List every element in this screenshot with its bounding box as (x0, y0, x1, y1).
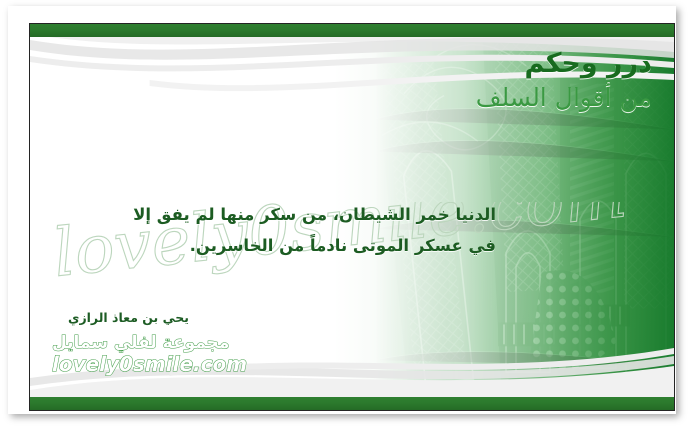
page-frame: درر وحكم من أقوال السلف lovely0smile.com… (8, 6, 676, 414)
poster-root: درر وحكم من أقوال السلف lovely0smile.com… (0, 0, 692, 432)
card-border: درر وحكم من أقوال السلف lovely0smile.com… (29, 23, 675, 411)
quote-line-2: في عسكر الموتى نادماً من الخاسرين. (106, 231, 496, 262)
page-title: درر وحكم (476, 50, 652, 77)
brand-site-label: lovely0smile.com (52, 352, 247, 376)
quote-block: الدنيا خمر الشيطان، من سكر منها لم يفق إ… (106, 200, 496, 261)
quote-attribution: يحي بن معاذ الرازي (68, 310, 189, 325)
top-green-bar (30, 24, 674, 37)
brand-logo[interactable]: مجموعة لفلي سمايل lovely0smile.com (38, 328, 298, 380)
quote-line-1: الدنيا خمر الشيطان، من سكر منها لم يفق إ… (106, 200, 496, 231)
brand-arabic-label: مجموعة لفلي سمايل (52, 333, 229, 353)
header-block: درر وحكم من أقوال السلف (476, 50, 652, 112)
bottom-green-bar (30, 397, 674, 410)
poster-canvas: درر وحكم من أقوال السلف lovely0smile.com… (30, 24, 674, 410)
page-subtitle: من أقوال السلف (476, 84, 652, 112)
